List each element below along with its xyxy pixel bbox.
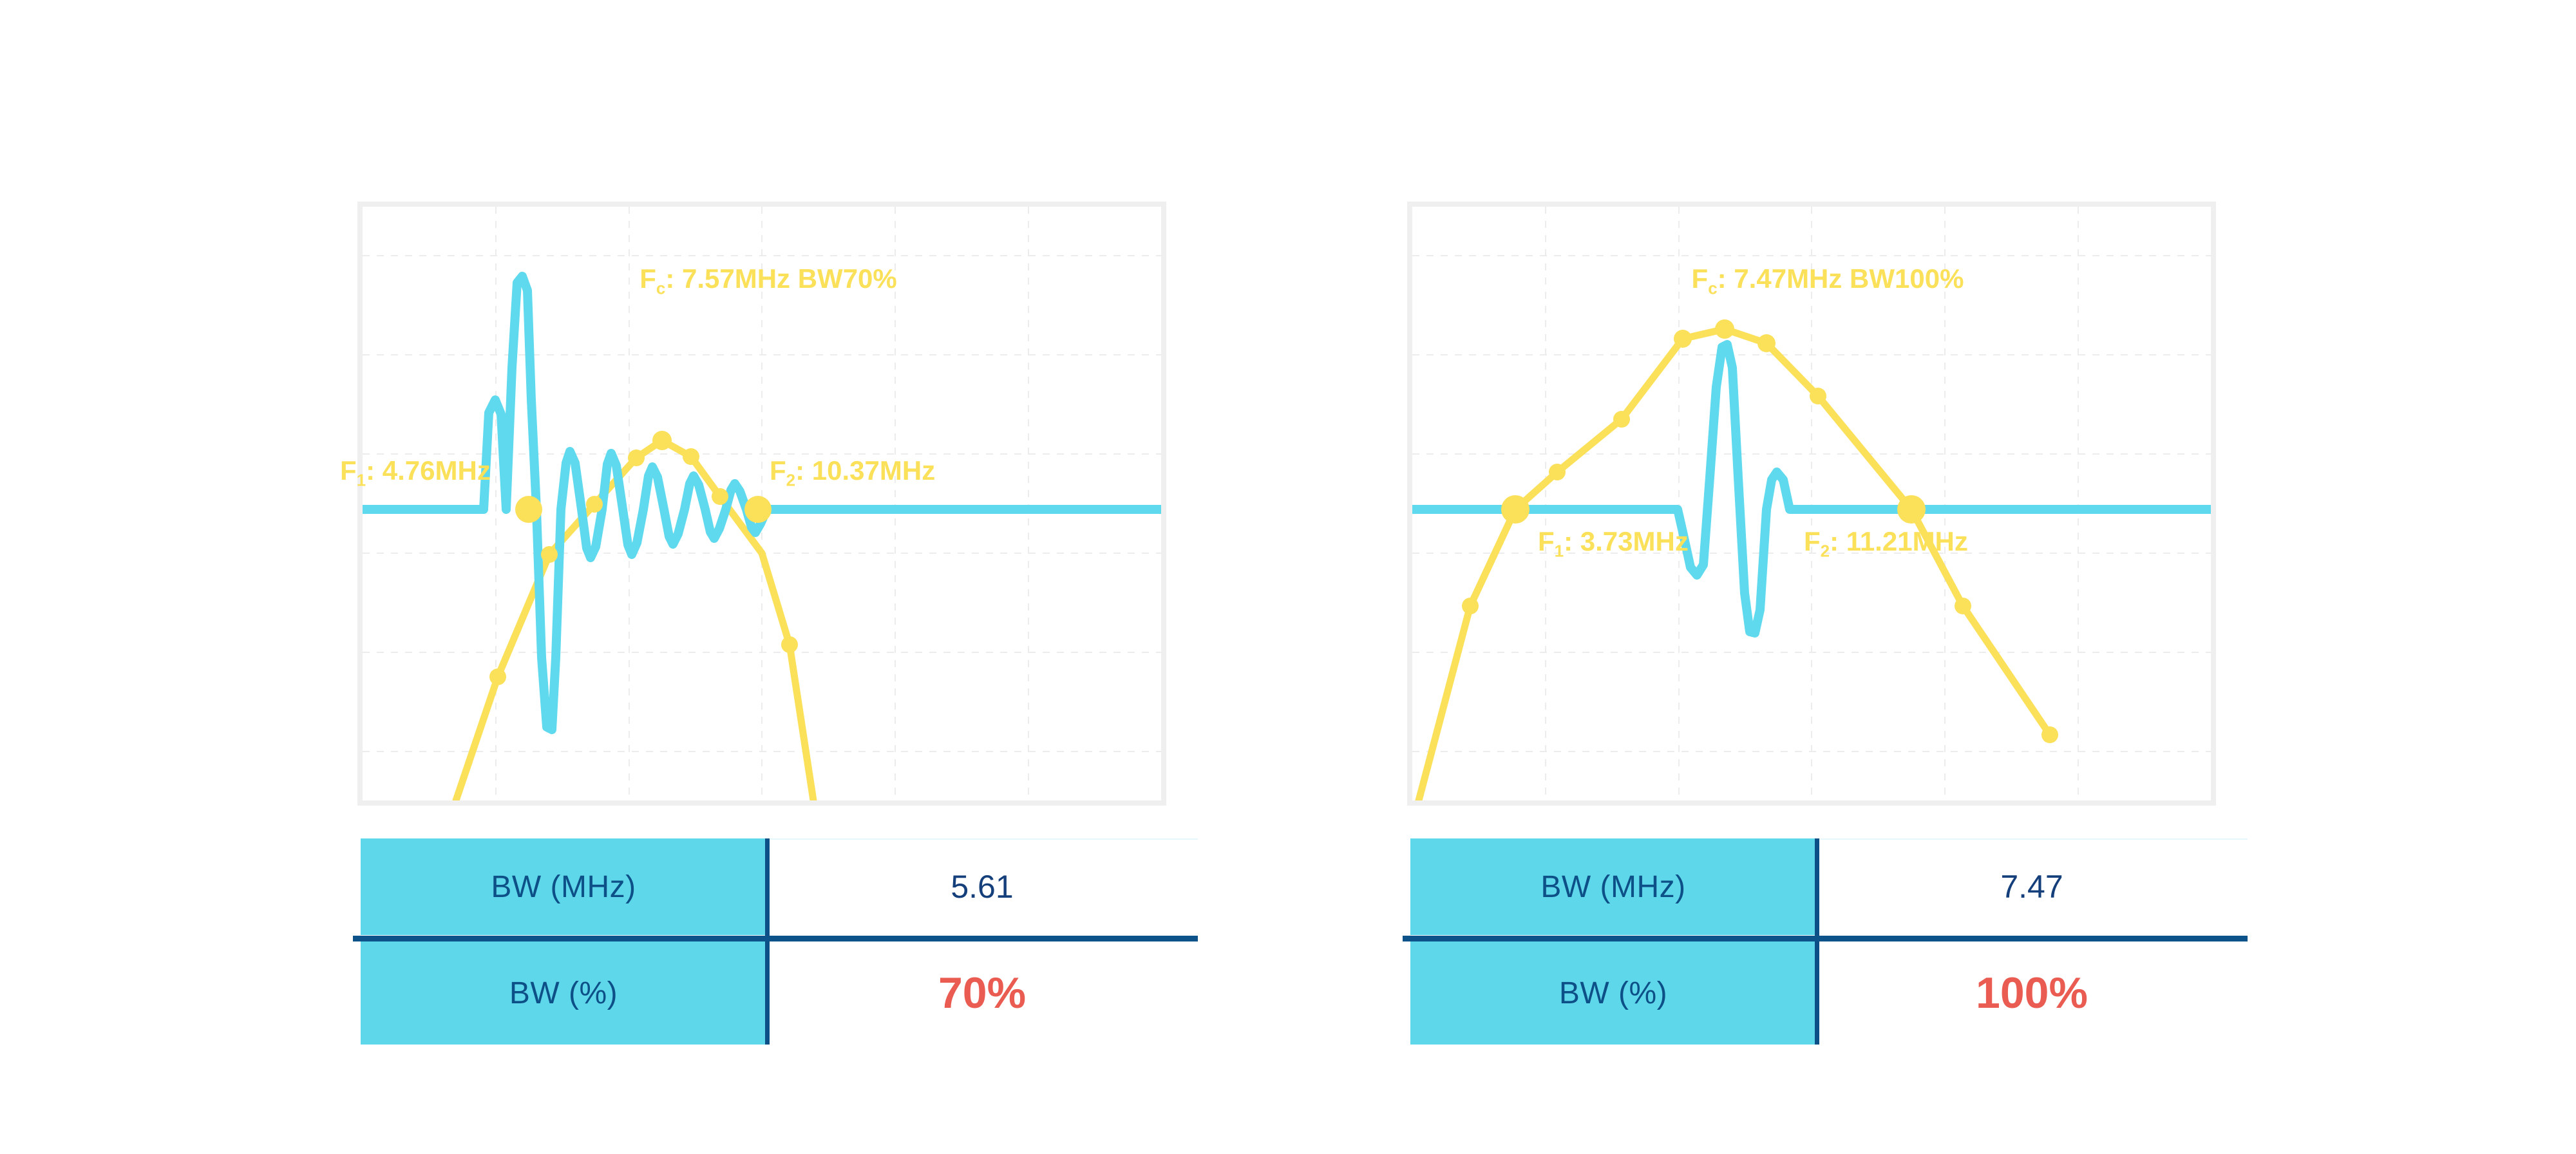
table-row-label-bw-mhz: BW (MHz) [1410,838,1816,935]
table-row-value-bw-pct: 100% [1816,941,2248,1045]
table-row-value-bw-mhz: 5.61 [766,838,1198,935]
annotation-center-text: : 7.57MHz BW70% [665,263,896,294]
bw-table-bw70: BW (MHz) 5.61 BW (%) 70% [361,838,1198,1045]
table-row-value-bw-pct: 70% [766,941,1198,1045]
marker-f1 [515,496,542,523]
annotation-f2: F2: 11.21MHz [1804,526,1968,561]
marker-f1 [1501,495,1529,524]
panel-bw100: Fc: 7.47MHz BW100% F1: 3.73MHz F2: 11.21… [1346,0,2248,1154]
panel-bw70: Fc: 7.57MHz BW70% F1: 4.76MHz F2: 10.37M… [296,0,1198,1154]
marker-f2 [1897,495,1926,524]
marker-f2 [744,496,772,523]
plot-frame-bw100: Fc: 7.47MHz BW100% F1: 3.73MHz F2: 11.21… [1407,202,2216,806]
annotation-f2-prefix: F [770,455,786,486]
annotation-f1-text: : 4.76MHz [366,455,491,486]
table-vertical-divider [1815,838,1819,1045]
annotation-center-frequency: Fc: 7.57MHz BW70% [556,263,981,298]
annotation-f2-text: : 10.37MHz [795,455,935,486]
annotation-center-frequency: Fc: 7.47MHz BW100% [1602,263,2053,298]
annotation-center-subscript: c [656,278,665,298]
table-vertical-divider [765,838,770,1045]
annotation-f1: F1: 3.73MHz [1538,526,1689,561]
table-row-label-bw-mhz: BW (MHz) [361,838,766,935]
annotation-f1-text: : 3.73MHz [1564,526,1689,556]
table-horizontal-divider [1403,936,2248,941]
annotation-f1-subscript: 1 [357,470,366,489]
annotation-center-prefix: F [639,263,656,294]
annotation-center-text: : 7.47MHz BW100% [1718,263,1964,294]
annotation-f1-prefix: F [340,455,357,486]
table-row-label-bw-pct: BW (%) [1410,941,1816,1045]
figure-root: Fc: 7.57MHz BW70% F1: 4.76MHz F2: 10.37M… [0,0,2576,1154]
table-row-label-bw-pct: BW (%) [361,941,766,1045]
annotation-f2-prefix: F [1804,526,1821,556]
plot-frame-bw70: Fc: 7.57MHz BW70% F1: 4.76MHz F2: 10.37M… [357,202,1166,806]
annotation-f2-text: : 11.21MHz [1830,526,1968,556]
annotation-f1: F1: 4.76MHz [340,455,491,490]
annotation-center-subscript: c [1708,278,1717,298]
table-row-value-bw-mhz: 7.47 [1816,838,2248,935]
annotation-f2-subscript: 2 [1821,541,1830,560]
annotation-f1-prefix: F [1538,526,1555,556]
annotation-f2: F2: 10.37MHz [770,455,935,490]
bw-table-bw100: BW (MHz) 7.47 BW (%) 100% [1410,838,2248,1045]
table-horizontal-divider [353,936,1198,941]
annotation-f1-subscript: 1 [1555,541,1564,560]
annotation-f2-subscript: 2 [786,470,795,489]
annotation-center-prefix: F [1692,263,1709,294]
